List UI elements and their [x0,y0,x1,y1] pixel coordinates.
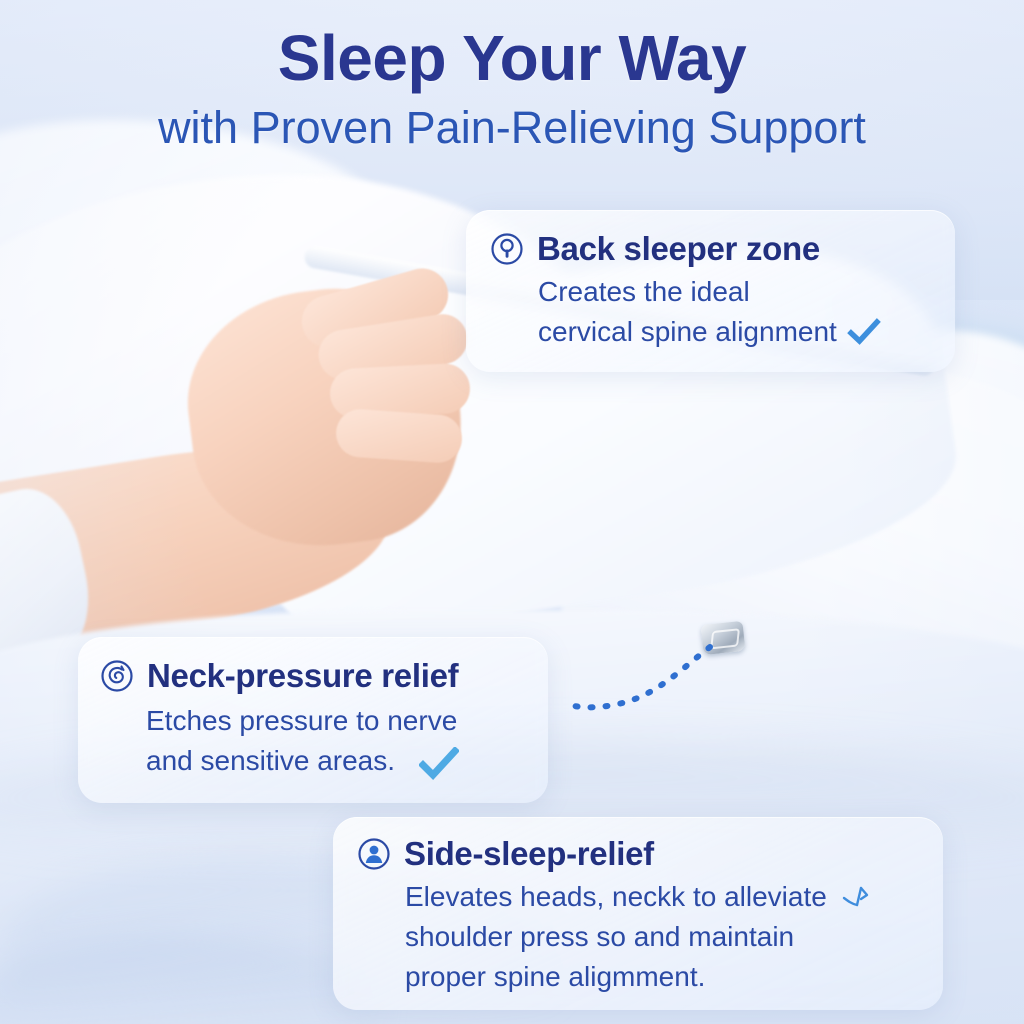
card-body-line: shoulder press so and maintain [405,917,917,957]
card-body-line-with-check: Elevates heads, neckk to alleviate [405,877,917,917]
card-title: Neck-pressure relief [147,657,458,695]
card-header: Neck-pressure relief [100,657,522,695]
card-header: Back sleeper zone [490,230,929,268]
person-in-circle-icon [357,837,391,871]
solid-check-icon [419,747,459,781]
dotted-trail-line [560,600,880,780]
card-body-line: and sensitive areas. [146,741,395,781]
card-body-line-with-check: cervical spine alignment [538,312,929,352]
feature-card-neck-pressure-relief[interactable]: Neck-pressure relief Etches pressure to … [78,637,548,803]
infographic-canvas: Sleep Your Way with Proven Pain-Relievin… [0,0,1024,1024]
card-title: Back sleeper zone [537,230,820,268]
page-subtitle: with Proven Pain-Relieving Support [0,104,1024,151]
card-body: Creates the ideal cervical spine alignme… [538,272,929,352]
solid-check-icon [847,318,881,346]
outline-check-icon [839,880,879,914]
card-body-line: Creates the ideal [538,272,929,312]
card-body-line: Etches pressure to nerve [146,701,522,741]
card-header: Side-sleep-relief [357,835,917,873]
feature-card-back-sleeper-zone[interactable]: Back sleeper zone Creates the ideal cerv… [466,210,955,372]
card-body-line-with-check: and sensitive areas. [146,741,522,781]
card-body-line: cervical spine alignment [538,312,837,352]
card-body-line: Elevates heads, neckk to alleviate [405,877,827,917]
card-body-line: proper spine aligmment. [405,957,917,997]
card-body: Elevates heads, neckk to alleviate shoul… [405,877,917,996]
feature-card-side-sleep-relief[interactable]: Side-sleep-relief Elevates heads, neckk … [333,817,943,1010]
page-title: Sleep Your Way [0,26,1024,90]
card-body: Etches pressure to nerve and sensitive a… [146,701,522,781]
pin-in-circle-icon [490,232,524,266]
finger-little [334,408,463,465]
header: Sleep Your Way with Proven Pain-Relievin… [0,0,1024,151]
card-title: Side-sleep-relief [404,835,654,873]
spiral-target-in-circle-icon [100,659,134,693]
